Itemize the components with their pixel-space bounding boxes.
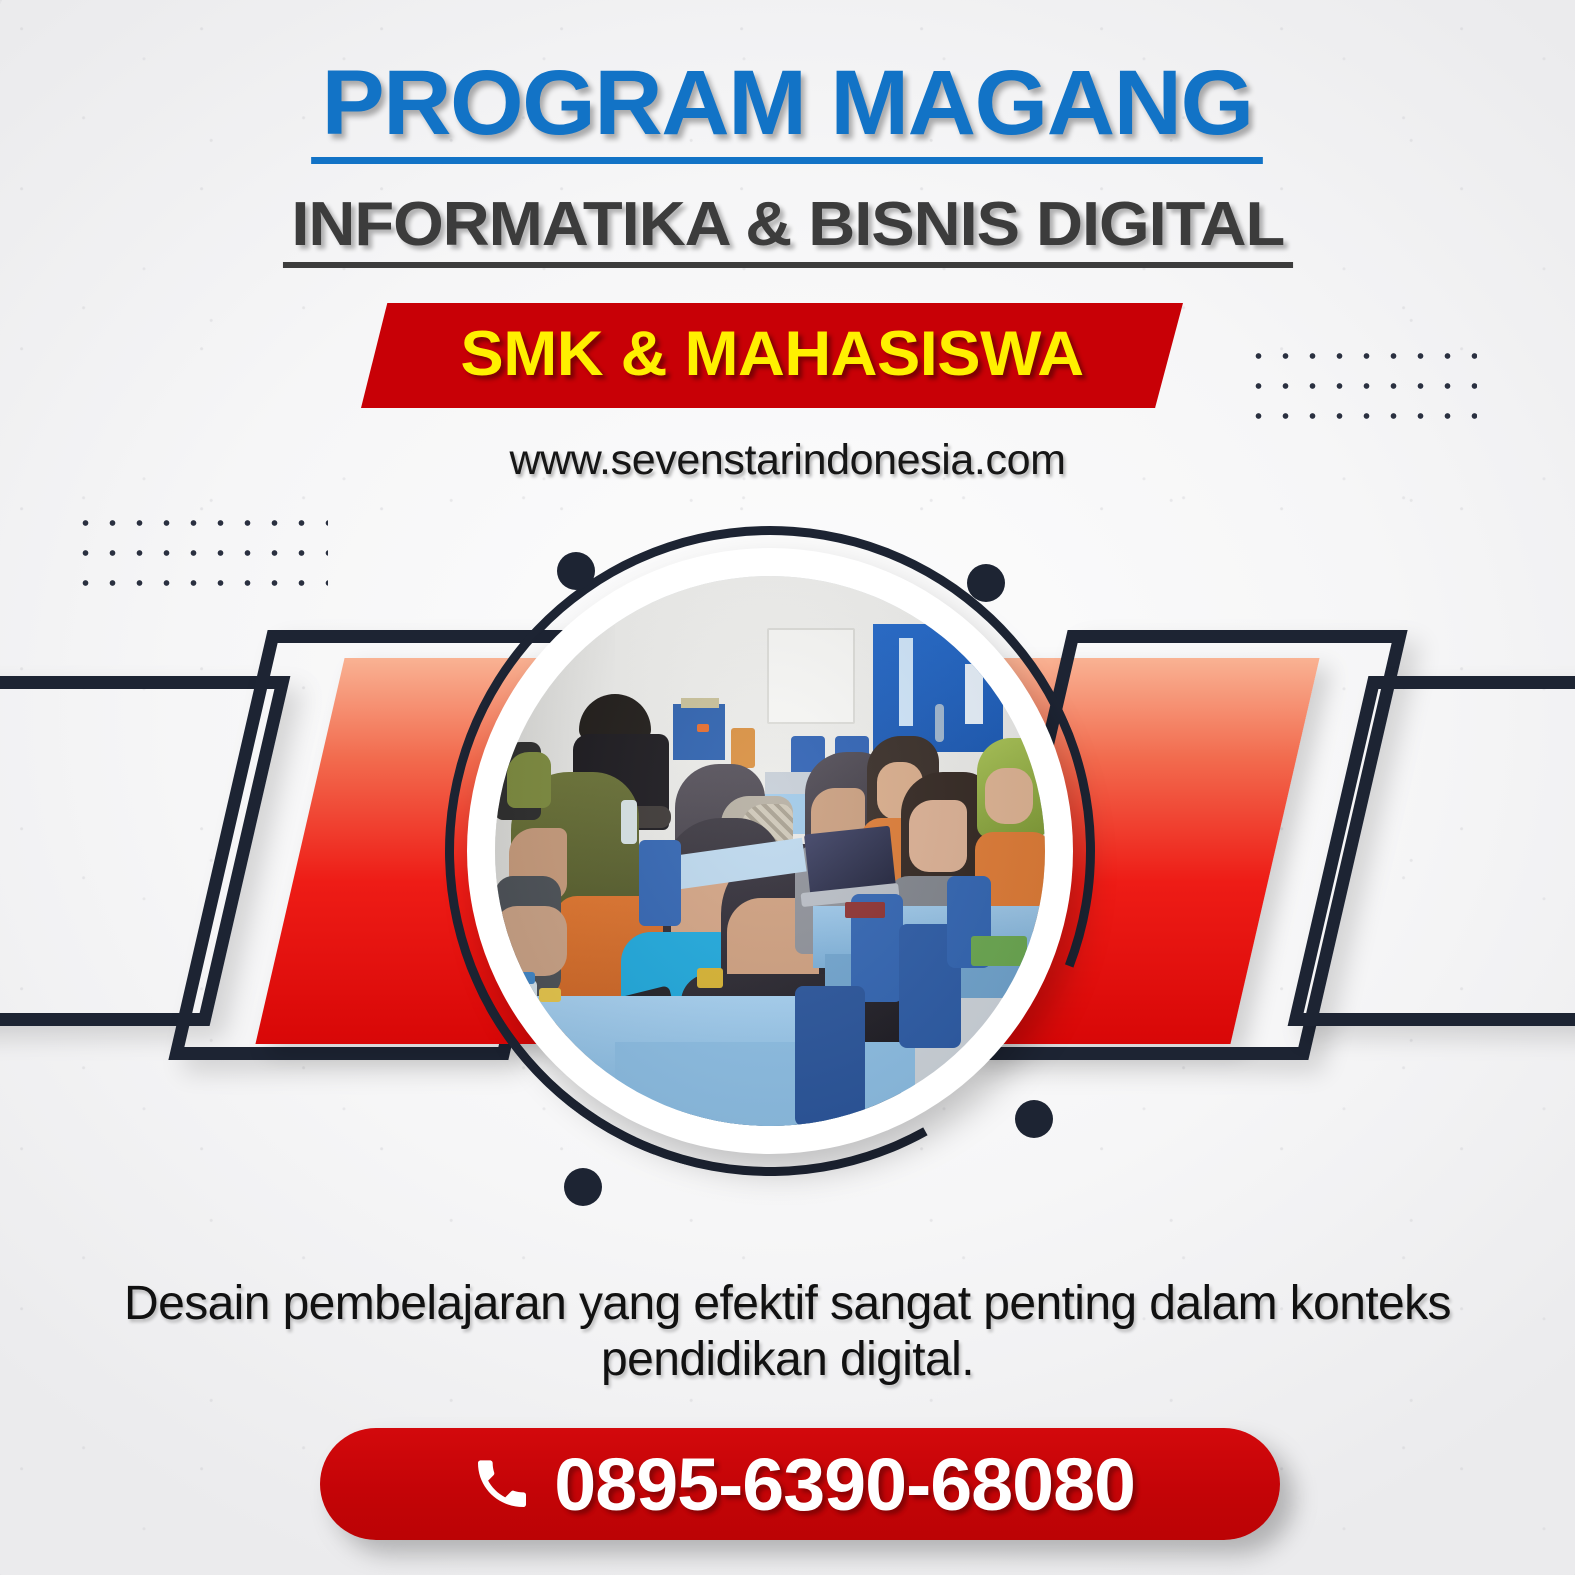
phone-handset-icon xyxy=(470,1451,534,1515)
audience-banner-label: SMK & MAHASISWA xyxy=(349,303,1196,408)
dot-grid-right-decoration xyxy=(1245,341,1477,419)
classroom-photo xyxy=(495,576,1045,1126)
page-title-primary: PROGRAM MAGANG xyxy=(312,58,1264,164)
phone-cta-button[interactable]: 0895-6390-68080 xyxy=(320,1428,1280,1540)
ring-node-dot-top-right xyxy=(967,564,1005,602)
audience-banner: SMK & MAHASISWA xyxy=(361,303,1183,408)
ring-node-dot-bottom-left xyxy=(564,1168,602,1206)
ring-node-dot-top-left xyxy=(557,552,595,590)
caption-text: Desain pembelajaran yang efektif sangat … xyxy=(120,1276,1455,1388)
circular-photo-frame xyxy=(425,508,1115,1258)
headline-block: PROGRAM MAGANG INFORMATIKA & BISNIS DIGI… xyxy=(0,58,1575,268)
phone-number-label: 0895-6390-68080 xyxy=(555,1442,1136,1527)
poster-canvas: PROGRAM MAGANG INFORMATIKA & BISNIS DIGI… xyxy=(0,0,1575,1575)
classroom-photo-scene xyxy=(495,576,1045,1126)
ring-node-dot-bottom-right xyxy=(1015,1100,1053,1138)
page-title-secondary: INFORMATIKA & BISNIS DIGITAL xyxy=(283,194,1293,268)
dot-grid-left-decoration xyxy=(72,508,328,586)
website-url[interactable]: www.sevenstarindonesia.com xyxy=(0,436,1575,485)
